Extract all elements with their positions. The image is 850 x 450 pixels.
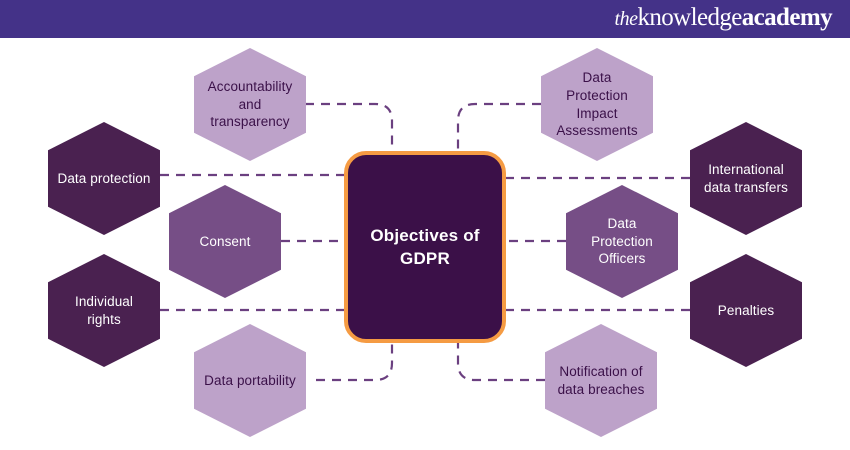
node-label: Data portability (204, 372, 296, 390)
node-label: Accountability and transparency (203, 78, 297, 131)
center-node-label: Objectives of GDPR (348, 224, 502, 271)
logo-the: the (615, 8, 638, 30)
node-label: International data transfers (699, 161, 793, 197)
connector-dpia (458, 104, 541, 151)
connector-accountability (305, 104, 392, 151)
header-bar: theknowledgeacademy (0, 0, 850, 38)
logo-academy: academy (742, 4, 832, 31)
node-label: Data Protection Officers (575, 215, 669, 268)
node-label: Penalties (718, 302, 774, 320)
node-label: Data Protection Impact Assessments (550, 69, 644, 140)
infographic-canvas: theknowledgeacademy (0, 0, 850, 450)
gdpr-objectives-diagram: Accountability and transparency Data pro… (0, 38, 850, 450)
node-label: Notification of data breaches (554, 363, 648, 399)
node-label: Individual rights (57, 293, 151, 329)
connector-notification-breaches (458, 343, 545, 380)
node-label: Consent (200, 233, 251, 251)
logo-knowledge: knowledge (637, 4, 741, 31)
node-label: Data protection (57, 170, 150, 188)
center-node-objectives-of-gdpr[interactable]: Objectives of GDPR (344, 151, 506, 343)
connector-data-portability (316, 343, 392, 380)
brand-logo: theknowledgeacademy (615, 5, 832, 30)
